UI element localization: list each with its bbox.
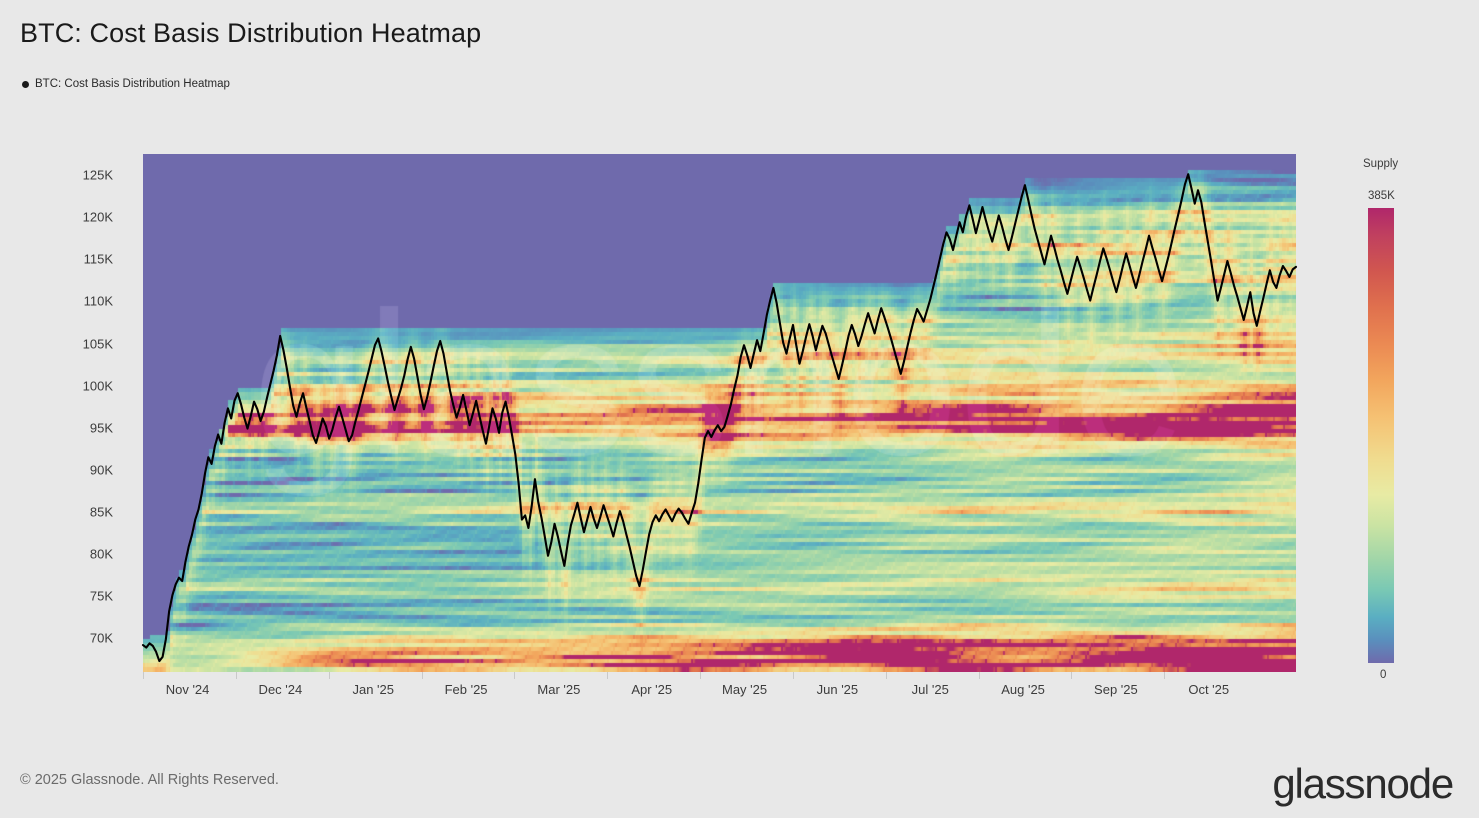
x-tick-label: Apr '25 [631, 682, 672, 697]
y-tick-label: 85K [0, 504, 113, 519]
x-tick-label: Aug '25 [1001, 682, 1045, 697]
x-gridline [1164, 672, 1165, 679]
x-tick-label: Feb '25 [445, 682, 488, 697]
y-tick-label: 100K [0, 378, 113, 393]
heatmap-plot-area[interactable] [143, 154, 1296, 672]
x-tick-label: Jul '25 [912, 682, 949, 697]
x-gridline [979, 672, 980, 679]
y-tick-label: 115K [0, 252, 113, 267]
btc-price-line [143, 154, 1296, 672]
y-tick-label: 95K [0, 420, 113, 435]
x-gridline [793, 672, 794, 679]
x-gridline [1071, 672, 1072, 679]
colorbar-title: Supply [1363, 158, 1473, 170]
x-tick-label: Mar '25 [537, 682, 580, 697]
colorbar-min-label: 0 [1380, 669, 1473, 681]
y-tick-label: 105K [0, 336, 113, 351]
x-tick-label: Nov '24 [166, 682, 210, 697]
x-gridline [514, 672, 515, 679]
y-tick-label: 110K [0, 294, 113, 309]
colorbar-max-label: 385K [1368, 190, 1473, 202]
x-gridline [607, 672, 608, 679]
y-tick-label: 70K [0, 631, 113, 646]
y-tick-label: 90K [0, 462, 113, 477]
y-tick-label: 80K [0, 547, 113, 562]
glassnode-logo: glassnode [1272, 760, 1453, 808]
y-axis: 125K120K115K110K105K100K95K90K85K80K75K7… [0, 0, 143, 818]
footer-copyright: © 2025 Glassnode. All Rights Reserved. [20, 772, 279, 788]
y-tick-label: 120K [0, 210, 113, 225]
supply-colorbar: Supply 385K 0 [1363, 158, 1473, 681]
x-tick-label: Jan '25 [352, 682, 394, 697]
x-tick-label: Dec '24 [259, 682, 303, 697]
x-gridline [236, 672, 237, 679]
colorbar-gradient [1368, 208, 1394, 663]
x-tick-label: Sep '25 [1094, 682, 1138, 697]
x-gridline [700, 672, 701, 679]
x-gridline [143, 672, 144, 679]
x-gridline [422, 672, 423, 679]
x-tick-label: May '25 [722, 682, 767, 697]
x-gridline [329, 672, 330, 679]
y-tick-label: 125K [0, 168, 113, 183]
x-gridline [886, 672, 887, 679]
x-tick-label: Oct '25 [1188, 682, 1229, 697]
y-tick-label: 75K [0, 589, 113, 604]
x-tick-label: Jun '25 [817, 682, 859, 697]
